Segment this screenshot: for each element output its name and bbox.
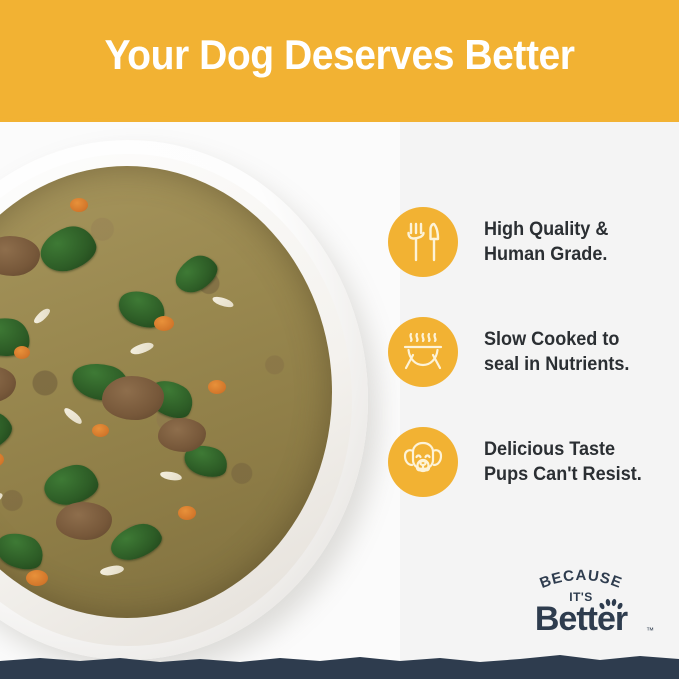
fork-knife-icon-badge (388, 207, 458, 277)
logo-wordmark: Better (506, 602, 656, 636)
brand-logo: BECAUSE IT'S Better ™ (506, 566, 656, 642)
footer-torn-edge (0, 653, 679, 669)
feature-item-slow-cooked: Slow Cooked to seal in Nutrients. (388, 316, 668, 388)
trademark-symbol: ™ (646, 626, 654, 635)
dog-food-bowl-photo (0, 118, 400, 670)
dog-face-icon-badge (388, 427, 458, 497)
dog-face-icon (400, 440, 446, 484)
feature-line-1: Delicious Taste (484, 437, 642, 462)
banner-torn-edge (0, 108, 679, 130)
logo-arc-label: BECAUSE (537, 567, 624, 592)
feature-line-1: Slow Cooked to (484, 327, 629, 352)
advertisement-banner: Your Dog Deserves Better Hi (0, 0, 679, 679)
paw-print-icon (598, 598, 624, 614)
feature-item-taste: Delicious Taste Pups Can't Resist. (388, 426, 668, 498)
page-title: Your Dog Deserves Better (24, 30, 655, 80)
feature-label-quality: High Quality & Human Grade. (484, 217, 608, 267)
feature-line-2: seal in Nutrients. (484, 352, 629, 377)
feature-list: High Quality & Human Grade. (388, 206, 668, 536)
feature-label-slow-cooked: Slow Cooked to seal in Nutrients. (484, 327, 629, 377)
grill-steam-icon-badge (388, 317, 458, 387)
svg-text:BECAUSE: BECAUSE (537, 567, 624, 592)
grill-steam-icon (400, 330, 446, 374)
feature-item-quality: High Quality & Human Grade. (388, 206, 668, 278)
feature-line-1: High Quality & (484, 217, 608, 242)
feature-label-taste: Delicious Taste Pups Can't Resist. (484, 437, 642, 487)
feature-line-2: Human Grade. (484, 242, 608, 267)
fork-knife-icon (403, 220, 443, 264)
feature-line-2: Pups Can't Resist. (484, 462, 642, 487)
